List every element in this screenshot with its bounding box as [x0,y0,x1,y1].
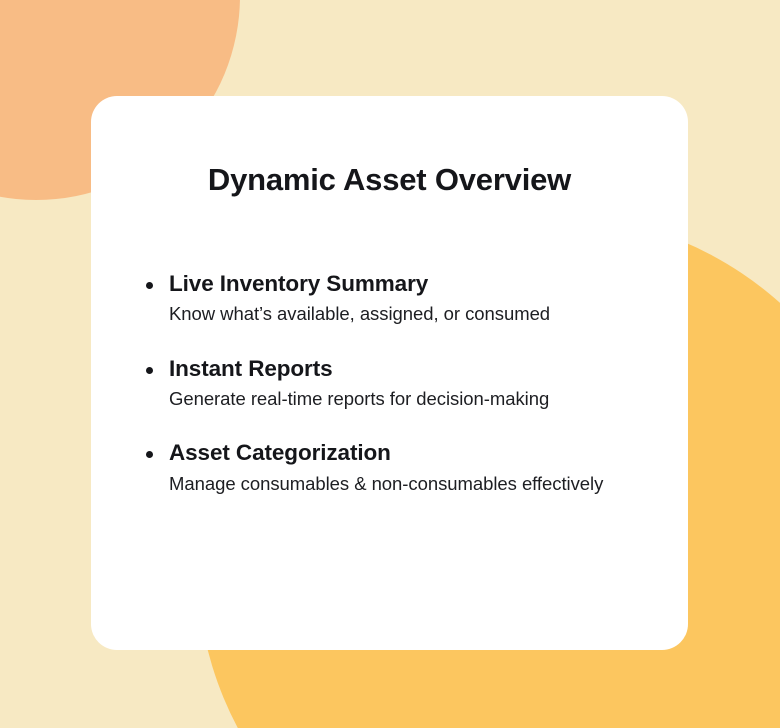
feature-list: Live Inventory Summary Know what’s avail… [136,270,664,497]
feature-description: Know what’s available, assigned, or cons… [169,301,664,327]
list-item: Instant Reports Generate real-time repor… [136,355,664,413]
feature-heading: Instant Reports [169,355,664,383]
feature-heading: Live Inventory Summary [169,270,664,298]
feature-description: Manage consumables & non-consumables eff… [169,471,664,497]
feature-description: Generate real-time reports for decision-… [169,386,664,412]
page-title: Dynamic Asset Overview [91,161,688,198]
feature-heading: Asset Categorization [169,439,664,467]
content-card: Dynamic Asset Overview Live Inventory Su… [91,96,688,650]
list-item: Asset Categorization Manage consumables … [136,439,664,497]
bullet-dot-icon [146,451,153,458]
bullet-dot-icon [146,282,153,289]
list-item: Live Inventory Summary Know what’s avail… [136,270,664,328]
slide-canvas: Dynamic Asset Overview Live Inventory Su… [0,0,780,728]
bullet-dot-icon [146,367,153,374]
